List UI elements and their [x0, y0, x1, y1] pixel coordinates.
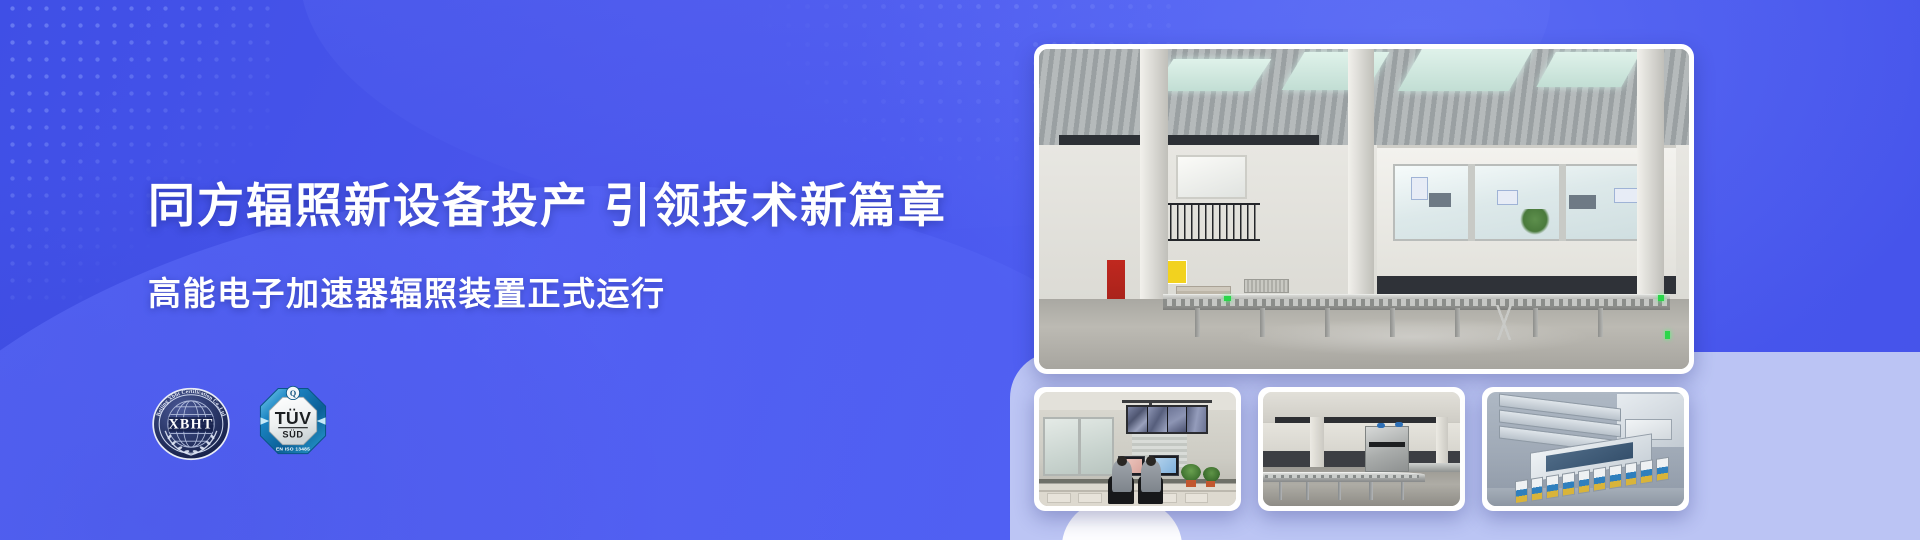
iso-standard-label: EN ISO 13485 [276, 447, 310, 453]
thumbnail-photo-frame-2[interactable] [1258, 387, 1465, 511]
tuv-wordmark: TÜV [275, 408, 312, 428]
xbht-certification-logo: XBHT Beijing Xbht Certification Co.,Ltd [148, 381, 234, 467]
thumbnail-photo-frame-1[interactable] [1034, 387, 1241, 511]
photo-gallery [1034, 44, 1694, 504]
hero-photo-frame[interactable] [1034, 44, 1694, 374]
conveyor-system-photo [1263, 392, 1460, 506]
q-badge-letter: Q [290, 389, 296, 398]
sud-wordmark: SÜD [282, 429, 303, 439]
irradiation-hall-photo [1039, 49, 1689, 369]
facility-3d-render [1487, 392, 1684, 506]
tuv-sud-logo: TÜV SÜD Q EN ISO 13485 [256, 384, 330, 464]
control-room-photo [1039, 392, 1236, 506]
headline-block: 同方辐照新设备投产 引领技术新篇章 高能电子加速器辐照装置正式运行 [148, 178, 1008, 315]
video-wall [1126, 405, 1209, 435]
svg-text:XBHT: XBHT [168, 417, 213, 433]
certification-logo-row: XBHT Beijing Xbht Certification Co.,Ltd [148, 381, 330, 467]
thumbnail-photo-frame-3[interactable] [1482, 387, 1689, 511]
irradiation-promo-banner: 同方辐照新设备投产 引领技术新篇章 高能电子加速器辐照装置正式运行 [0, 0, 1920, 540]
page-title: 同方辐照新设备投产 引领技术新篇章 [148, 178, 1008, 233]
page-subtitle: 高能电子加速器辐照装置正式运行 [148, 273, 1008, 314]
